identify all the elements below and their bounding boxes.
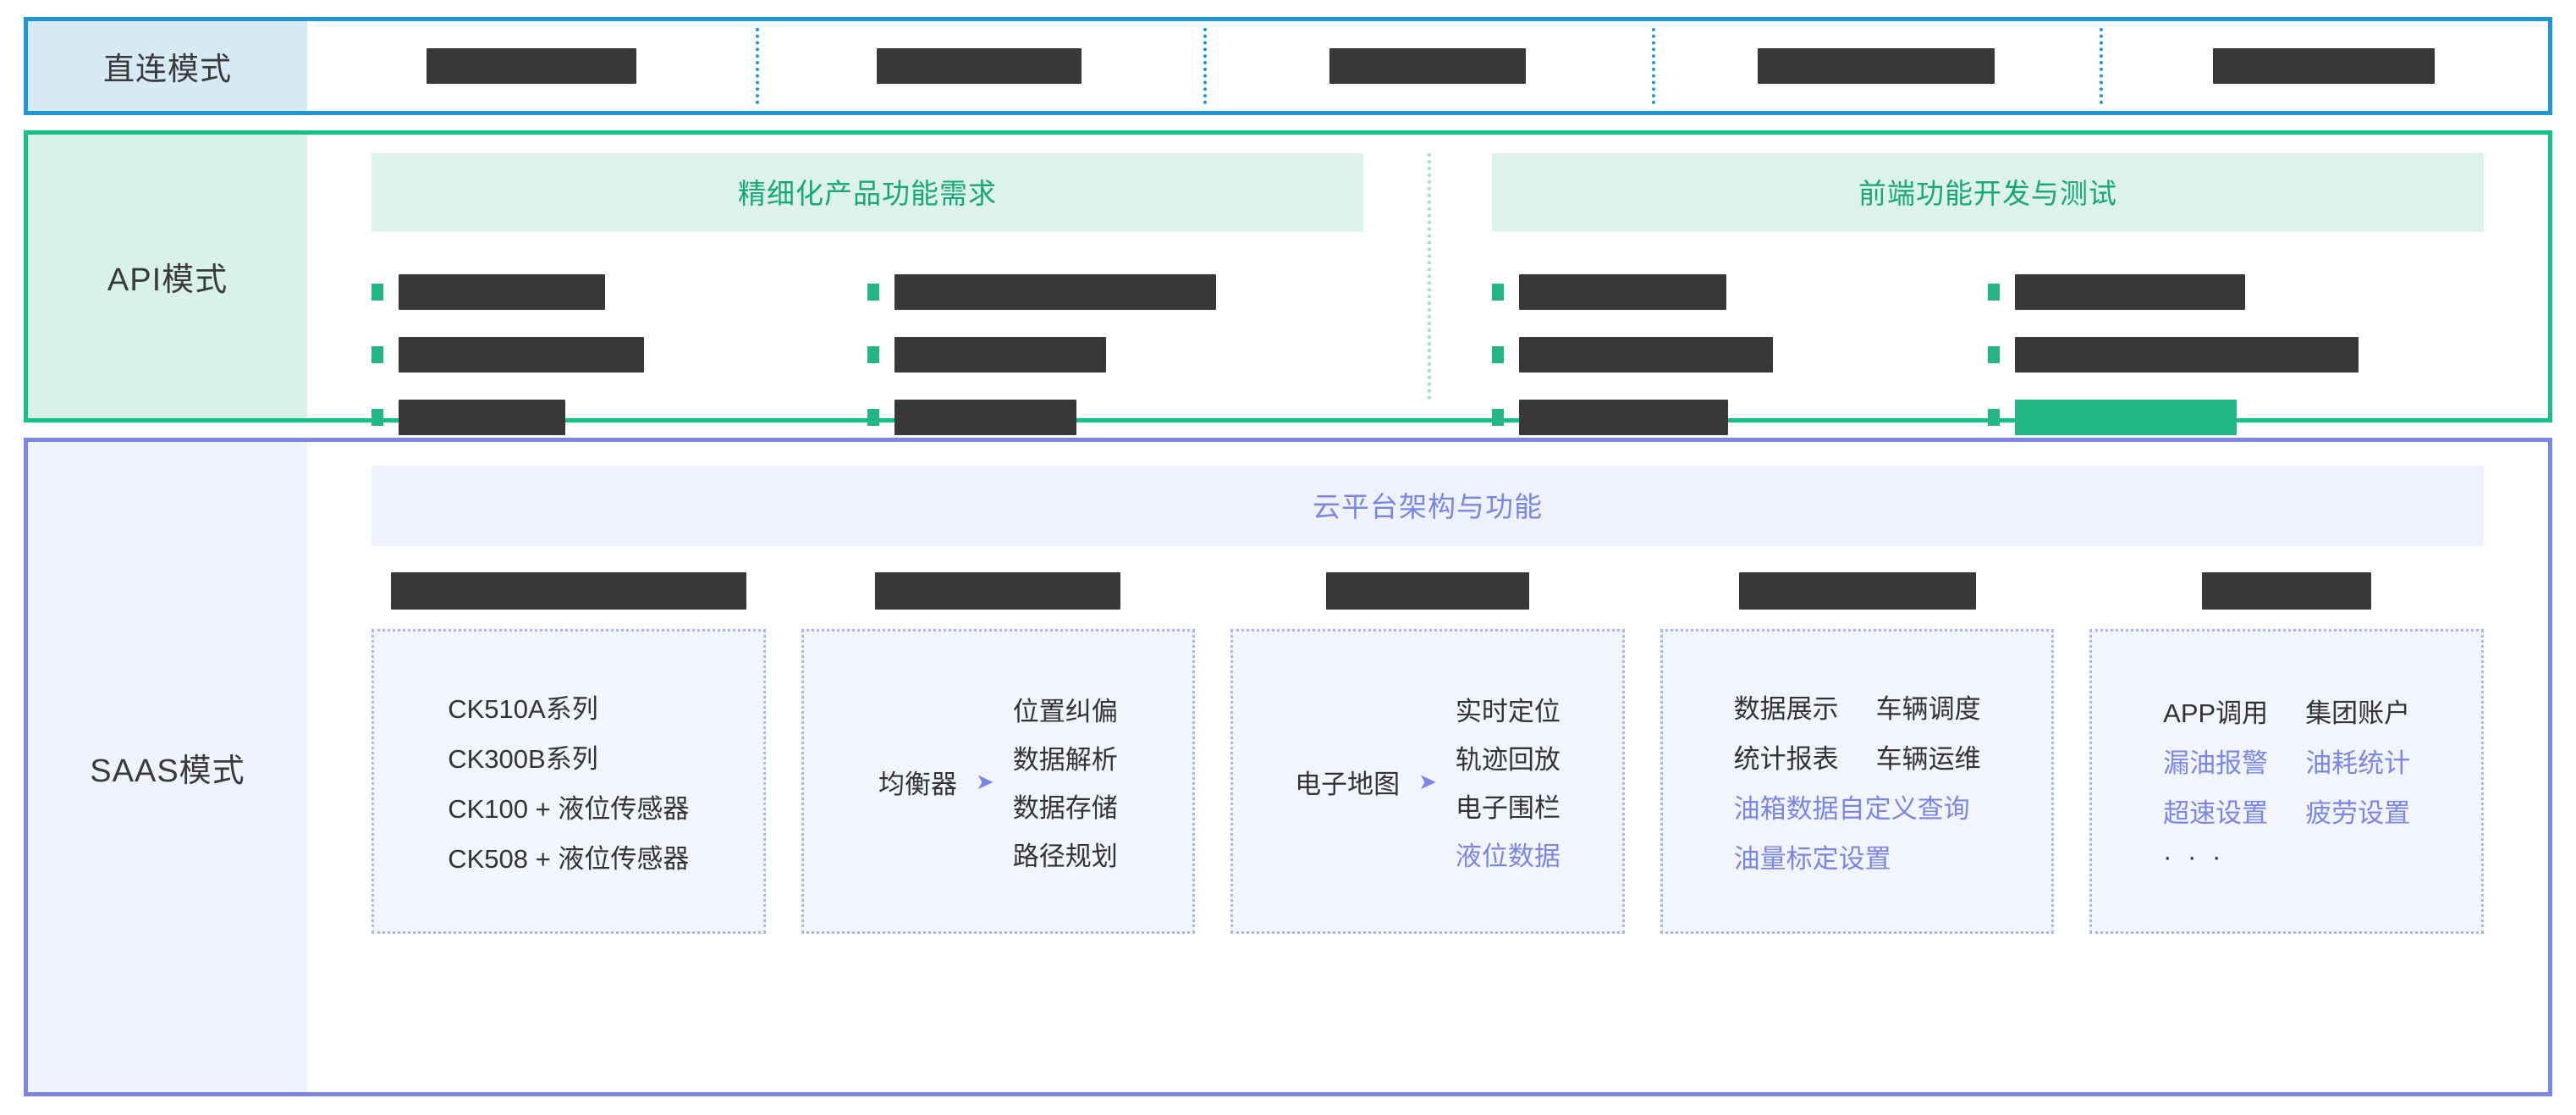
api-bullet-item — [1492, 261, 1988, 323]
feature-grid: APP调用 集团账户 漏油报警 油耗统计 超速设置 疲劳设置 · · · — [2163, 692, 2410, 872]
band-label-api-mode: API模式 — [28, 135, 307, 418]
redacted-text-block — [427, 48, 636, 84]
flow-source-label: 均衡器 — [878, 763, 957, 801]
api-bullet-item — [1492, 323, 1988, 386]
api-bullet-item — [1988, 323, 2484, 386]
square-bullet-icon — [1492, 346, 1504, 363]
list-item: CK510A系列 — [448, 687, 689, 726]
diagram-page: 直连模式 API模式 — [0, 0, 2576, 1115]
feature-item-highlighted: 油耗统计 — [2305, 742, 2410, 780]
redacted-text-block — [1329, 48, 1526, 84]
direct-connect-cells — [307, 21, 2548, 111]
api-bullet-item — [1988, 261, 2484, 323]
list-item: 位置纠偏 — [1013, 690, 1118, 728]
redacted-text-block — [399, 274, 605, 310]
arrow-right-icon: ➤ — [1418, 770, 1437, 792]
flow-target-list: 位置纠偏 数据解析 数据存储 路径规划 — [1013, 690, 1118, 873]
api-column-frontend-dev-test: 前端功能开发与测试 — [1428, 135, 2548, 418]
square-bullet-icon — [867, 284, 879, 301]
api-bullet-item — [372, 323, 867, 386]
map-flow: 电子地图 ➤ 实时定位 轨迹回放 电子围栏 液位数据 — [1295, 690, 1560, 873]
square-bullet-icon — [867, 409, 879, 426]
api-bullet-group — [1988, 261, 2484, 449]
api-bullet-groups — [1492, 261, 2484, 449]
square-bullet-icon — [1492, 284, 1504, 301]
saas-section-header: 云平台架构与功能 — [372, 466, 2484, 546]
saas-column-data-reports: 数据展示 车辆调度 统计报表 车辆运维 油箱数据自定义查询 油量标定设置 — [1660, 571, 2055, 934]
feature-item: 集团账户 — [2305, 692, 2410, 730]
list-item: 数据存储 — [1013, 787, 1118, 825]
redacted-text-block — [2015, 337, 2359, 373]
saas-column-title — [1660, 571, 2055, 610]
list-item: CK508 + 液位传感器 — [448, 837, 689, 875]
feature-item-highlighted: 油量标定设置 — [1734, 837, 1981, 875]
square-bullet-icon — [1988, 409, 2000, 426]
saas-card: CK510A系列 CK300B系列 CK100 + 液位传感器 CK508 + … — [372, 629, 766, 934]
band-body-direct-connect — [307, 21, 2548, 111]
saas-column-title — [801, 571, 1196, 610]
redacted-text-block — [1519, 337, 1773, 373]
band-label-direct-connect: 直连模式 — [28, 21, 307, 111]
feature-item: APP调用 — [2163, 692, 2268, 730]
feature-grid: 数据展示 车辆调度 统计报表 车辆运维 油箱数据自定义查询 油量标定设置 — [1734, 687, 1981, 875]
api-bullet-item — [867, 386, 1363, 449]
square-bullet-icon — [372, 346, 383, 363]
api-bullet-item — [372, 386, 867, 449]
feature-item: 数据展示 — [1734, 687, 1839, 726]
flow-target-list: 实时定位 轨迹回放 电子围栏 液位数据 — [1456, 690, 1560, 873]
saas-column-balancer: 均衡器 ➤ 位置纠偏 数据解析 数据存储 路径规划 — [801, 571, 1196, 934]
square-bullet-icon — [372, 284, 383, 301]
redacted-text-block-highlighted — [2015, 400, 2237, 435]
square-bullet-icon — [1988, 284, 2000, 301]
feature-item: 车辆运维 — [1876, 737, 1981, 776]
redacted-text-block — [399, 337, 644, 373]
redacted-text-block — [894, 337, 1106, 373]
saas-card: 均衡器 ➤ 位置纠偏 数据解析 数据存储 路径规划 — [801, 629, 1196, 934]
band-label-saas-mode: SAAS模式 — [28, 442, 307, 1092]
band-body-saas-mode: 云平台架构与功能 CK510A系列 CK300B系列 CK100 + 液位传感器 — [307, 442, 2548, 1092]
redacted-text-block — [875, 572, 1120, 610]
api-bullet-item — [1492, 386, 1988, 449]
saas-column-map: 电子地图 ➤ 实时定位 轨迹回放 电子围栏 液位数据 — [1230, 571, 1625, 934]
band-direct-connect: 直连模式 — [24, 17, 2552, 115]
feature-item: 统计报表 — [1734, 737, 1839, 776]
feature-item-highlighted: 漏油报警 — [2163, 742, 2268, 780]
direct-connect-cell — [1203, 21, 1652, 111]
feature-item-highlighted: 超速设置 — [2163, 792, 2268, 830]
redacted-text-block — [1326, 572, 1529, 610]
redacted-text-block — [2015, 274, 2245, 310]
direct-connect-cell — [756, 21, 1204, 111]
api-column-header: 精细化产品功能需求 — [372, 153, 1363, 232]
saas-column-title — [1230, 571, 1625, 610]
saas-columns: CK510A系列 CK300B系列 CK100 + 液位传感器 CK508 + … — [372, 571, 2484, 934]
list-item-highlighted: 液位数据 — [1456, 835, 1560, 873]
api-column-header: 前端功能开发与测试 — [1492, 153, 2484, 232]
band-body-api-mode: 精细化产品功能需求 — [307, 135, 2548, 418]
redacted-text-block — [894, 274, 1216, 310]
direct-connect-cell — [2100, 21, 2548, 111]
saas-column-app-alarms: APP调用 集团账户 漏油报警 油耗统计 超速设置 疲劳设置 · · · — [2089, 571, 2484, 934]
list-item: CK100 + 液位传感器 — [448, 787, 689, 825]
feature-item-highlighted: 油箱数据自定义查询 — [1734, 787, 1981, 825]
saas-card: APP调用 集团账户 漏油报警 油耗统计 超速设置 疲劳设置 · · · — [2089, 629, 2484, 934]
band-saas-mode: SAAS模式 云平台架构与功能 CK510A系列 CK300B系列 — [24, 438, 2552, 1096]
redacted-text-block — [1739, 572, 1976, 610]
redacted-text-block — [1519, 274, 1726, 310]
redacted-text-block — [877, 48, 1082, 84]
square-bullet-icon — [1988, 346, 2000, 363]
device-model-list: CK510A系列 CK300B系列 CK100 + 液位传感器 CK508 + … — [448, 687, 689, 875]
square-bullet-icon — [867, 346, 879, 363]
band-api-mode: API模式 精细化产品功能需求 — [24, 130, 2552, 422]
list-item: CK300B系列 — [448, 737, 689, 776]
feature-item-highlighted: 疲劳设置 — [2305, 792, 2410, 830]
api-bullet-item — [867, 261, 1363, 323]
api-columns: 精细化产品功能需求 — [307, 135, 2548, 418]
api-bullet-item-highlighted — [1988, 386, 2484, 449]
api-column-product-requirements: 精细化产品功能需求 — [307, 135, 1428, 418]
redacted-text-block — [894, 400, 1076, 435]
redacted-text-block — [399, 400, 565, 435]
redacted-text-block — [1758, 48, 1995, 84]
balancer-flow: 均衡器 ➤ 位置纠偏 数据解析 数据存储 路径规划 — [878, 690, 1118, 873]
api-bullet-item — [372, 261, 867, 323]
list-item: 轨迹回放 — [1456, 738, 1560, 776]
direct-connect-cell — [307, 21, 756, 111]
square-bullet-icon — [1492, 409, 1504, 426]
direct-connect-cell — [1652, 21, 2100, 111]
list-item: 电子围栏 — [1456, 787, 1560, 825]
redacted-text-block — [2202, 572, 2371, 610]
list-item: 数据解析 — [1013, 738, 1118, 776]
square-bullet-icon — [372, 409, 383, 426]
redacted-text-block — [1519, 400, 1728, 435]
list-item: 路径规划 — [1013, 835, 1118, 873]
redacted-text-block — [2213, 48, 2435, 84]
saas-column-devices: CK510A系列 CK300B系列 CK100 + 液位传感器 CK508 + … — [372, 571, 766, 934]
saas-content: 云平台架构与功能 CK510A系列 CK300B系列 CK100 + 液位传感器 — [307, 442, 2548, 1092]
saas-card: 数据展示 车辆调度 统计报表 车辆运维 油箱数据自定义查询 油量标定设置 — [1660, 629, 2055, 934]
saas-card: 电子地图 ➤ 实时定位 轨迹回放 电子围栏 液位数据 — [1230, 629, 1625, 934]
api-bullet-group — [372, 261, 867, 449]
arrow-right-icon: ➤ — [976, 770, 994, 792]
api-bullet-item — [867, 323, 1363, 386]
api-bullet-groups — [372, 261, 1363, 449]
saas-column-title — [372, 571, 766, 610]
ellipsis-indicator: · · · — [2163, 842, 2410, 872]
api-bullet-group — [1492, 261, 1988, 449]
feature-item: 车辆调度 — [1876, 687, 1981, 726]
flow-source-label: 电子地图 — [1295, 763, 1400, 801]
redacted-text-block — [391, 572, 746, 610]
list-item: 实时定位 — [1456, 690, 1560, 728]
api-bullet-group — [867, 261, 1363, 449]
saas-column-title — [2089, 571, 2484, 610]
